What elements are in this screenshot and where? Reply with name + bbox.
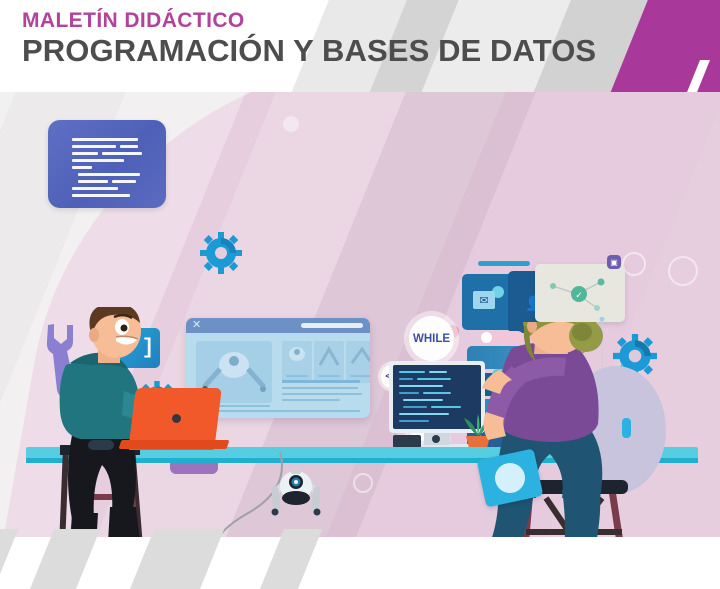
deco-ring-3 <box>353 473 373 493</box>
browser-thumbnail-3[interactable] <box>346 341 370 383</box>
gear-icon-top <box>200 232 242 279</box>
floor <box>0 537 720 589</box>
code-editor-card <box>48 120 166 208</box>
notification-dot <box>492 286 504 298</box>
deco-dot-1 <box>283 116 299 132</box>
poster-header: MALETÍN DIDÁCTICO PROGRAMACIÓN Y BASES D… <box>0 0 720 92</box>
deco-ring-2 <box>668 256 698 286</box>
monitor-power-led <box>432 435 440 443</box>
deco-ring-1 <box>622 252 646 276</box>
browser-thumbnail-1[interactable] <box>282 341 312 383</box>
spider-robot <box>265 468 327 520</box>
illustration-stage: [ ] </> <box>0 92 720 589</box>
keyword-bubble-while[interactable]: WHILE <box>409 316 454 361</box>
poster-title: PROGRAMACIÓN Y BASES DE DATOS <box>22 34 596 68</box>
poster-root: MALETÍN DIDÁCTICO PROGRAMACIÓN Y BASES D… <box>0 0 720 589</box>
browser-text-line <box>282 380 360 383</box>
ui-card-bar-top <box>478 261 530 266</box>
browser-text-line <box>282 393 362 395</box>
laptop-logo <box>172 414 181 423</box>
browser-text-line <box>282 387 358 389</box>
header-text-block: MALETÍN DIDÁCTICO PROGRAMACIÓN Y BASES D… <box>22 10 596 68</box>
tablet-screen-icon <box>492 460 528 496</box>
browser-address-bar[interactable] <box>301 323 363 328</box>
ui-card-corner-badge[interactable]: ▣ <box>607 255 621 269</box>
browser-thumbnail-2[interactable] <box>314 341 344 383</box>
ui-card-network-panel[interactable]: ✓ ▣ <box>535 264 625 322</box>
browser-text-line <box>282 399 340 401</box>
poster-kicker: MALETÍN DIDÁCTICO <box>22 10 596 32</box>
svg-text:✓: ✓ <box>575 290 583 300</box>
